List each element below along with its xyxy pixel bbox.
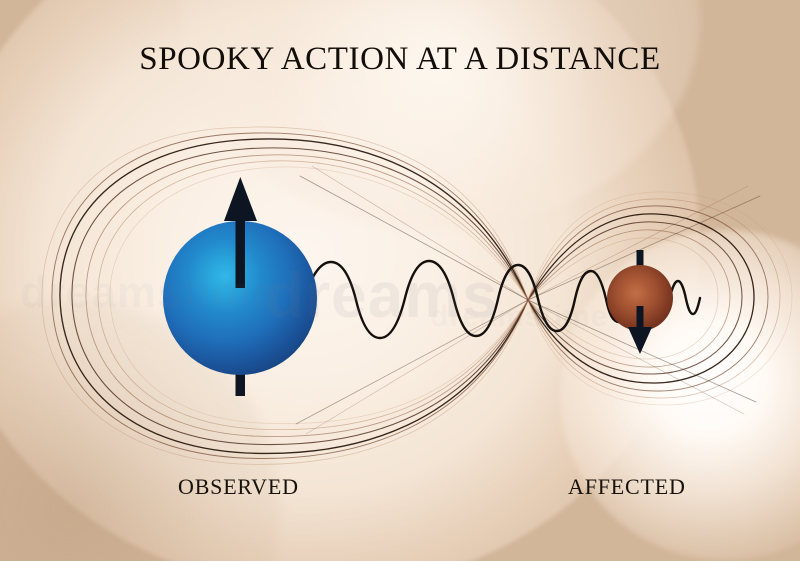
caption-affected: AFFECTED	[568, 474, 686, 500]
illustration-canvas: dreams dreamstime dreamstime SPOOKY ACTI…	[0, 0, 800, 561]
affected-particle-group[interactable]	[607, 250, 673, 354]
page-title: SPOOKY ACTION AT A DISTANCE	[0, 41, 800, 78]
entanglement-loop-bundle	[42, 127, 792, 464]
crossing-strands	[296, 166, 760, 434]
observed-particle-group[interactable]	[163, 177, 317, 396]
caption-observed: OBSERVED	[178, 474, 299, 500]
